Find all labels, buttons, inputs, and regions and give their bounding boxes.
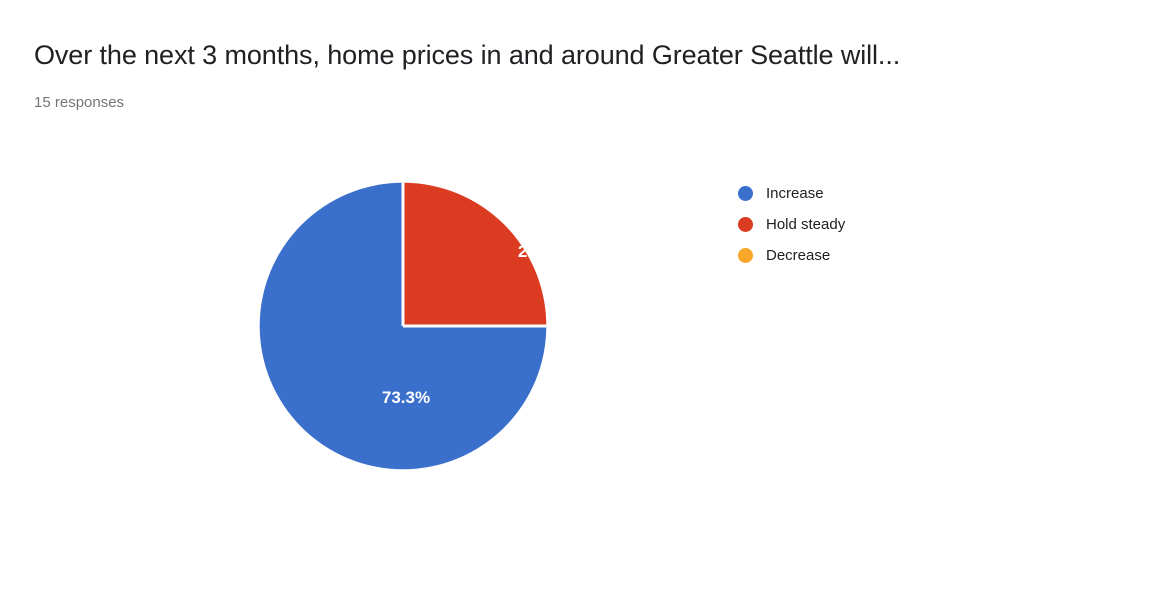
chart-legend: Increase Hold steady Decrease — [738, 178, 1058, 271]
pie-graphic: 26.7% 73.3% — [238, 161, 568, 491]
pie-svg: 26.7% 73.3% — [238, 161, 568, 491]
slice-label-hold-steady: 26.7% — [518, 242, 566, 261]
legend-item-decrease[interactable]: Decrease — [738, 240, 1058, 271]
response-count-label: 15 responses — [34, 92, 124, 113]
legend-label-decrease: Decrease — [766, 246, 830, 266]
legend-item-hold-steady[interactable]: Hold steady — [738, 209, 1058, 240]
chart-card: Over the next 3 months, home prices in a… — [0, 0, 1166, 604]
legend-dot-icon — [738, 248, 753, 263]
legend-item-increase[interactable]: Increase — [738, 178, 1058, 209]
page-title: Over the next 3 months, home prices in a… — [34, 38, 1124, 72]
slice-label-increase: 73.3% — [382, 388, 430, 407]
legend-label-hold-steady: Hold steady — [766, 215, 845, 235]
legend-dot-icon — [738, 186, 753, 201]
pie-chart: 26.7% 73.3% Increase Hold steady Decreas… — [0, 130, 1166, 570]
legend-label-increase: Increase — [766, 184, 824, 204]
legend-dot-icon — [738, 217, 753, 232]
